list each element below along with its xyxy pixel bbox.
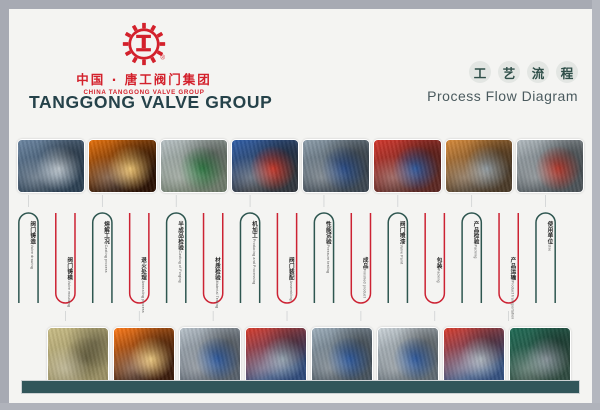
photo-cnc-machining (302, 139, 370, 193)
photo-valve-inventory (516, 139, 584, 193)
flow-step-14-label-cn: 产品运输 (509, 257, 515, 281)
frame-edge-bottom (0, 403, 600, 410)
title-char-3: 流 (527, 61, 549, 83)
photo-grinding-station (179, 327, 241, 385)
flow-step-9-label-cn: 性能试验 (325, 221, 331, 245)
flow-step-2-label-cn: 阀门铸模 (66, 257, 72, 281)
company-logo: ® 中国 · 唐工阀门集团 CHINA TANGGONG VALVE GROUP (19, 21, 269, 96)
process-flow-diagram: 阀门铸造Valve drawing阀门铸模Valve moulding熔解工况C… (17, 195, 584, 321)
photo-assembly-line-workers (245, 327, 307, 385)
frame-edge-top (0, 0, 600, 9)
flow-step-10: 成品Finished product (356, 257, 373, 298)
photo-painted-valves-row (377, 327, 439, 385)
flow-step-4: 退火处理Annealing process (134, 257, 151, 313)
photo-valve-assembly-red (373, 139, 441, 193)
photo-forklift-warehouse-texture (446, 140, 512, 192)
flow-step-13-label-en: Packing (474, 245, 478, 259)
flow-step-14: 产品运输Product transportation (504, 257, 521, 319)
photo-painted-valves-row-texture (378, 328, 438, 384)
flow-step-8: 阀门装配Assembling (282, 257, 299, 301)
photo-valve-inventory-texture (517, 140, 583, 192)
photo-strip-top (17, 139, 584, 193)
photo-packing-crew (443, 327, 505, 385)
flow-step-3-label-cn: 熔解工况 (103, 221, 109, 245)
title-char-4: 程 (556, 61, 578, 83)
flow-step-14-label-en: Product transportation (510, 281, 514, 320)
title-chinese: 工 艺 流 程 (427, 61, 578, 83)
svg-text:®: ® (161, 55, 166, 62)
footer-accent-bar (21, 380, 580, 394)
photo-molten-metal-pouring (88, 139, 156, 193)
flow-step-2-label-en: Valve moulding (67, 281, 71, 307)
flow-step-7-label-en: Producing and Processing (252, 239, 256, 285)
flow-step-12: 包装Packing (430, 257, 447, 283)
flow-step-6-label-cn: 材质检验 (214, 257, 220, 281)
photo-raw-castings (47, 327, 109, 385)
page-title: 工 艺 流 程 Process Flow Diagram (427, 61, 578, 104)
flow-step-10-label-en: Finished product (363, 269, 367, 298)
flow-step-1-label-cn: 阀门铸造 (29, 221, 35, 245)
brand-title: TANGGONG VALVE GROUP (29, 92, 272, 113)
flow-step-5-label-cn: 半成品检验 (177, 221, 183, 251)
photo-engineer-cad-design (17, 139, 85, 193)
slide-root: ® 中国 · 唐工阀门集团 CHINA TANGGONG VALVE GROUP… (0, 0, 600, 410)
flow-step-10-label-cn: 成品 (362, 257, 368, 269)
flow-step-11-label-cn: 阀门喷漆 (399, 221, 405, 245)
photo-assembly-line-workers-texture (246, 328, 306, 384)
gear-logo-icon: ® (121, 21, 167, 67)
flow-step-5: 半成品检验Casting of Forging (171, 221, 188, 283)
slide-canvas: ® 中国 · 唐工阀门集团 CHINA TANGGONG VALVE GROUP… (9, 9, 592, 403)
flow-step-12-label-cn: 包装 (436, 257, 442, 269)
photo-packing-crew-texture (444, 328, 504, 384)
title-english: Process Flow Diagram (427, 88, 578, 104)
flow-step-7-label-cn: 机加工 (251, 221, 257, 239)
flow-step-2: 阀门铸模Valve moulding (60, 257, 77, 307)
flow-step-5-label-en: Casting of Forging (178, 251, 182, 283)
photo-pressure-test-bench (311, 327, 373, 385)
flow-step-15-label-en: Use (547, 245, 551, 252)
flow-step-13-label-cn: 产品检验 (473, 221, 479, 245)
photo-casting-workshop (160, 139, 228, 193)
flow-step-6-label-en: Material Testing (215, 281, 219, 309)
flow-step-4-label-en: Annealing process (141, 281, 145, 313)
flow-step-1: 阀门铸造Valve drawing (23, 221, 40, 269)
flow-step-15: 使用单位Use (541, 221, 558, 251)
frame-edge-right (592, 0, 600, 410)
photo-grinding-station-texture (180, 328, 240, 384)
title-char-2: 艺 (498, 61, 520, 83)
photo-raw-castings-texture (48, 328, 108, 384)
frame-edge-left (0, 0, 9, 410)
flow-step-13: 产品检验Packing (467, 221, 484, 258)
photo-valve-assembly-red-texture (374, 140, 440, 192)
photo-hot-forging-texture (114, 328, 174, 384)
flow-step-11: 阀门喷漆Valve Paint (393, 221, 410, 264)
flow-step-3: 熔解工况Casting process (97, 221, 114, 273)
photo-operator-control-panel (231, 139, 299, 193)
photo-molten-metal-pouring-texture (89, 140, 155, 192)
flow-step-3-label-en: Casting process (104, 245, 108, 273)
flow-step-9: 性能试验Pressure testing (319, 221, 336, 273)
photo-cnc-machining-texture (303, 140, 369, 192)
photo-pressure-test-bench-texture (312, 328, 372, 384)
flow-step-8-label-cn: 阀门装配 (288, 257, 294, 281)
slide-header: ® 中国 · 唐工阀门集团 CHINA TANGGONG VALVE GROUP… (9, 9, 592, 122)
flow-step-6: 材质检验Material Testing (208, 257, 225, 308)
title-char-1: 工 (469, 61, 491, 83)
photo-delivery-truck-fleet-texture (510, 328, 570, 384)
flow-step-1-label-en: Valve drawing (30, 245, 34, 269)
flow-step-4-label-cn: 退火处理 (140, 257, 146, 281)
logo-chinese-name: 中国 · 唐工阀门集团 (19, 69, 269, 88)
photo-delivery-truck-fleet (509, 327, 571, 385)
photo-hot-forging (113, 327, 175, 385)
flow-step-12-label-en: Packing (437, 269, 441, 283)
flow-step-7: 机加工Producing and Processing (245, 221, 262, 284)
flow-step-9-label-en: Pressure testing (326, 245, 330, 274)
flow-step-15-label-cn: 使用单位 (546, 221, 552, 245)
photo-operator-control-panel-texture (232, 140, 298, 192)
photo-casting-workshop-texture (161, 140, 227, 192)
photo-strip-bottom (47, 327, 571, 385)
flow-step-8-label-en: Assembling (289, 281, 293, 301)
photo-forklift-warehouse (445, 139, 513, 193)
photo-engineer-cad-design-texture (18, 140, 84, 192)
flow-step-11-label-en: Valve Paint (400, 245, 404, 265)
